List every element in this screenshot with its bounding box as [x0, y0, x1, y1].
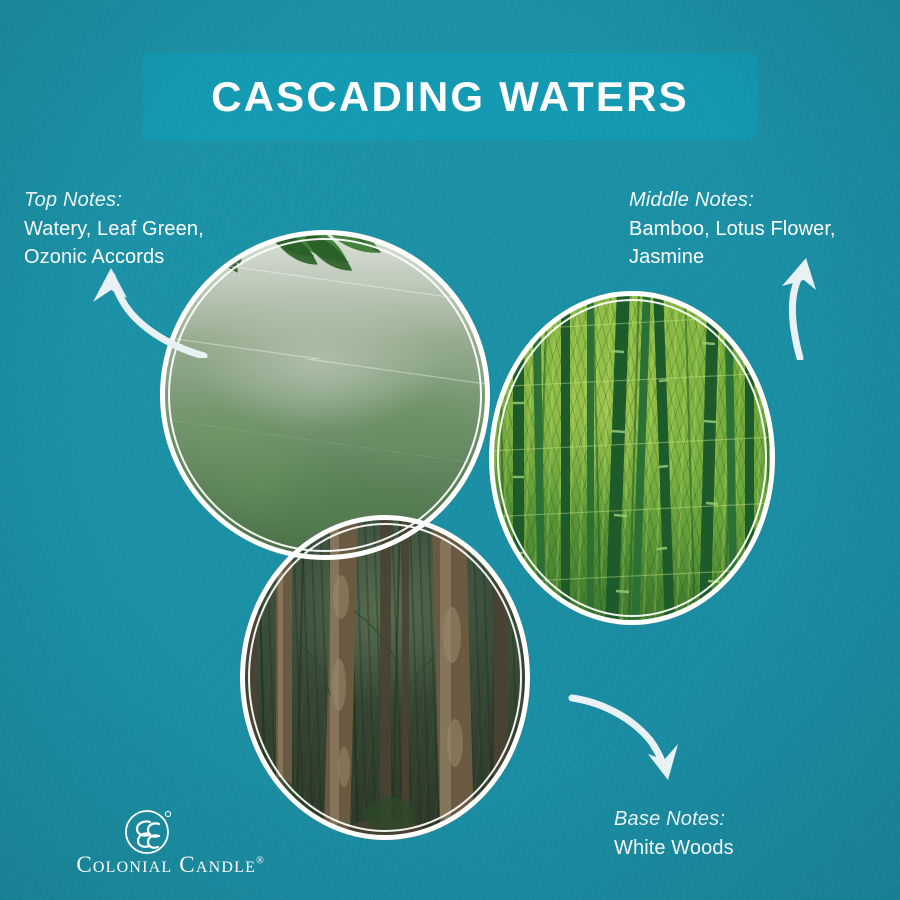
top-notes-label: Top Notes:	[24, 186, 274, 215]
tree-trunks-icon	[240, 515, 530, 840]
title-banner: Cascading Waters	[143, 53, 757, 140]
arrow-to-base-notes-icon	[568, 688, 702, 784]
base-notes-block: Base Notes: White Woods	[614, 805, 864, 862]
registered-mark: ®	[256, 855, 264, 866]
bamboo-stalks-icon	[489, 291, 775, 625]
page-title: Cascading Waters	[211, 76, 689, 118]
rain-streaks-overlay	[160, 230, 490, 560]
bamboo-grove-photo	[489, 291, 775, 625]
brand-wordmark-text: Colonial Candle	[76, 852, 256, 877]
brand-logo: Colonial Candle®	[75, 806, 265, 884]
rain-forest-photo	[160, 230, 490, 560]
middle-notes-block: Middle Notes: Bamboo, Lotus Flower, Jasm…	[629, 186, 894, 272]
colonial-candle-monogram-icon	[123, 806, 173, 856]
white-woods-photo	[240, 515, 530, 840]
poster-canvas: Cascading Waters	[0, 0, 900, 900]
base-notes-value: White Woods	[614, 834, 864, 862]
middle-notes-value: Bamboo, Lotus Flower, Jasmine	[629, 215, 894, 272]
middle-notes-label: Middle Notes:	[629, 186, 894, 215]
brand-wordmark: Colonial Candle®	[75, 852, 265, 878]
base-notes-label: Base Notes:	[614, 805, 864, 834]
